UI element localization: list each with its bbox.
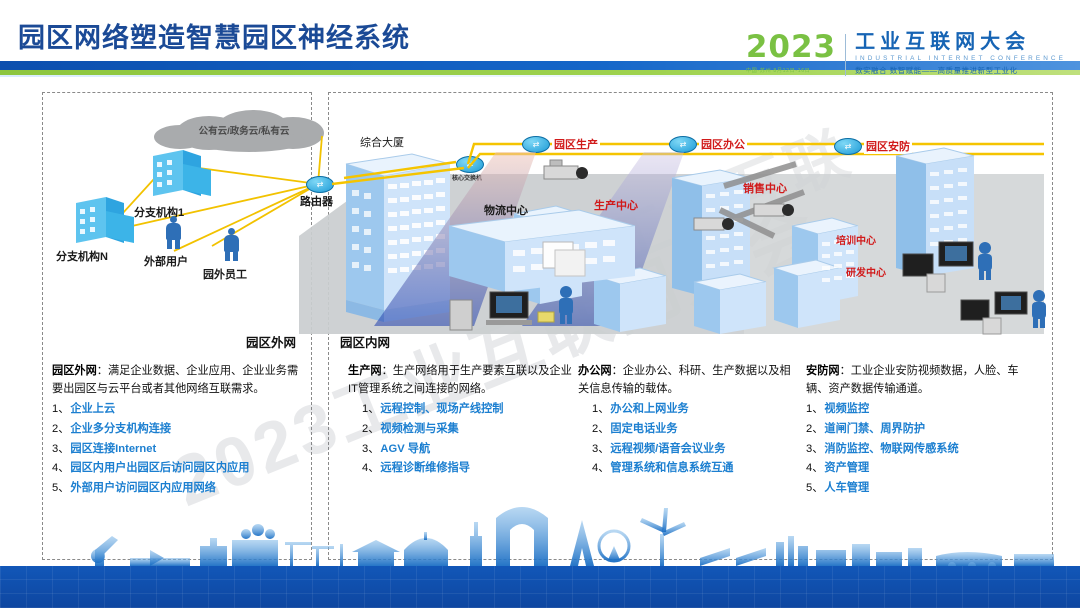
list-item[interactable]: 2、企业多分支机构连接 — [52, 420, 304, 438]
list-item[interactable]: 3、AGV 导航 — [362, 440, 576, 458]
section-header-inner: 园区内网 — [340, 332, 390, 351]
item-text: 园区连接Internet — [70, 440, 156, 458]
column-office-lead: 办公网 — [578, 365, 612, 377]
column-production-paragraph: 生产网：生产网络用于生产要素互联以及企业IT管理系统之间连接的网络。 — [348, 362, 576, 398]
slide-root: 园区网络塑造智慧园区神经系统 2023 中国·苏州 8月12日-16日 工业互联… — [0, 0, 1080, 608]
item-text: 办公和上网业务 — [610, 400, 688, 418]
column-security-items: 1、视频监控 2、道闸门禁、周界防护 3、消防监控、物联网传感系统 4、资产管理… — [806, 400, 1038, 497]
item-text: 视频监控 — [824, 400, 869, 418]
list-item[interactable]: 2、固定电话业务 — [592, 420, 800, 438]
item-number: 2、 — [52, 420, 69, 438]
item-number: 5、 — [52, 479, 69, 497]
logo-divider — [845, 34, 846, 76]
workstation-cluster-left — [444, 274, 664, 364]
item-text: 道闸门禁、周界防护 — [824, 420, 925, 438]
column-security-paragraph: 安防网：工业企业安防视频数据，人脸、车辆、资产数据传输通道。 — [806, 362, 1038, 398]
item-text: 园区内用户出园区后访问园区内应用 — [70, 459, 249, 477]
item-number: 4、 — [362, 459, 379, 477]
item-number: 3、 — [52, 440, 69, 458]
item-number: 1、 — [806, 400, 823, 418]
column-outer-network: 园区外网：满足企业数据、企业应用、企业业务需要出园区与云平台或者其他网络互联需求… — [52, 362, 304, 498]
column-outer-lead: 园区外网 — [52, 365, 97, 377]
item-number: 2、 — [806, 420, 823, 438]
list-item[interactable]: 3、远程视频/语音会议业务 — [592, 440, 800, 458]
logo-main-title: 工业互联网大会 — [855, 32, 1066, 52]
cloud-label: 公有云/政务云/私有云 — [154, 123, 334, 137]
conference-logo: 2023 中国·苏州 8月12日-16日 工业互联网大会 INDUSTRIAL … — [746, 32, 1066, 76]
list-item[interactable]: 1、视频监控 — [806, 400, 1038, 418]
list-item[interactable]: 5、人车管理 — [806, 479, 1038, 497]
item-text: 远程诊断维修指导 — [380, 459, 470, 477]
item-number: 1、 — [52, 400, 69, 418]
camera-arms — [704, 156, 904, 296]
list-item[interactable]: 1、远程控制、现场产线控制 — [362, 400, 576, 418]
list-item[interactable]: 5、外部用户访问园区内应用网络 — [52, 479, 304, 497]
list-item[interactable]: 4、资产管理 — [806, 459, 1038, 477]
list-item[interactable]: 3、消防监控、物联网传感系统 — [806, 440, 1038, 458]
logo-year-block: 2023 中国·苏州 8月12日-16日 — [746, 32, 836, 74]
page-title: 园区网络塑造智慧园区神经系统 — [18, 16, 410, 55]
list-item[interactable]: 3、园区连接Internet — [52, 440, 304, 458]
list-item[interactable]: 4、管理系统和信息系统互通 — [592, 459, 800, 477]
item-number: 3、 — [806, 440, 823, 458]
column-outer-paragraph: 园区外网：满足企业数据、企业应用、企业业务需要出园区与云平台或者其他网络互联需求… — [52, 362, 304, 398]
column-outer-items: 1、企业上云 2、企业多分支机构连接 3、园区连接Internet 4、园区内用… — [52, 400, 304, 497]
column-office-network: 办公网：企业办公、科研、生产数据以及相关信息传输的载体。 1、办公和上网业务 2… — [578, 362, 800, 479]
column-production-desc: ：生产网络用于生产要素互联以及企业IT管理系统之间连接的网络。 — [348, 365, 572, 395]
item-number: 4、 — [806, 459, 823, 477]
logo-year: 2023 — [746, 32, 836, 63]
item-text: 远程视频/语音会议业务 — [610, 440, 725, 458]
item-text: 企业上云 — [70, 400, 115, 418]
item-text: 消防监控、物联网传感系统 — [824, 440, 958, 458]
item-number: 5、 — [806, 479, 823, 497]
column-production-items: 1、远程控制、现场产线控制 2、视频检测与采集 3、AGV 导航 4、远程诊断维… — [362, 400, 576, 477]
item-text: 人车管理 — [824, 479, 869, 497]
item-number: 4、 — [52, 459, 69, 477]
list-item[interactable]: 1、办公和上网业务 — [592, 400, 800, 418]
footer-band — [0, 566, 1080, 608]
item-number: 1、 — [592, 400, 609, 418]
item-text: 管理系统和信息系统互通 — [610, 459, 733, 477]
item-number: 1、 — [362, 400, 379, 418]
item-number: 3、 — [362, 440, 379, 458]
list-item[interactable]: 2、道闸门禁、周界防护 — [806, 420, 1038, 438]
list-item[interactable]: 4、园区内用户出园区后访问园区内应用 — [52, 459, 304, 477]
logo-tagline: 数实融合 数智赋能——高质量推进新型工业化 — [855, 65, 1066, 76]
list-item[interactable]: 1、企业上云 — [52, 400, 304, 418]
item-text: 固定电话业务 — [610, 420, 677, 438]
column-production-network: 生产网：生产网络用于生产要素互联以及企业IT管理系统之间连接的网络。 1、远程控… — [348, 362, 576, 479]
logo-text-block: 工业互联网大会 INDUSTRIAL INTERNET CONFERENCE 数… — [855, 32, 1066, 76]
item-text: 资产管理 — [824, 459, 869, 477]
item-number: 2、 — [592, 420, 609, 438]
logo-year-subtitle: 中国·苏州 8月12日-16日 — [746, 67, 836, 74]
network-topology-diagram: 公有云/政务云/私有云 分支机构1 — [44, 96, 1049, 336]
list-item[interactable]: 2、视频检测与采集 — [362, 420, 576, 438]
workstation-cluster-right — [899, 234, 1080, 344]
item-text: 企业多分支机构连接 — [70, 420, 171, 438]
item-number: 4、 — [592, 459, 609, 477]
logistics-center-label: 物流中心 — [484, 202, 528, 218]
item-number: 2、 — [362, 420, 379, 438]
column-production-lead: 生产网 — [348, 365, 382, 377]
item-text: AGV 导航 — [380, 440, 430, 458]
column-office-paragraph: 办公网：企业办公、科研、生产数据以及相关信息传输的载体。 — [578, 362, 800, 398]
logo-english-title: INDUSTRIAL INTERNET CONFERENCE — [855, 55, 1066, 62]
item-text: 视频检测与采集 — [380, 420, 458, 438]
section-header-outer: 园区外网 — [246, 332, 296, 351]
item-text: 外部用户访问园区内应用网络 — [70, 479, 215, 497]
column-security-network: 安防网：工业企业安防视频数据，人脸、车辆、资产数据传输通道。 1、视频监控 2、… — [806, 362, 1038, 498]
city-skyline-decoration — [0, 500, 1080, 570]
item-text: 远程控制、现场产线控制 — [380, 400, 503, 418]
column-office-items: 1、办公和上网业务 2、固定电话业务 3、远程视频/语音会议业务 4、管理系统和… — [592, 400, 800, 477]
list-item[interactable]: 4、远程诊断维修指导 — [362, 459, 576, 477]
column-security-lead: 安防网 — [806, 365, 840, 377]
item-number: 3、 — [592, 440, 609, 458]
